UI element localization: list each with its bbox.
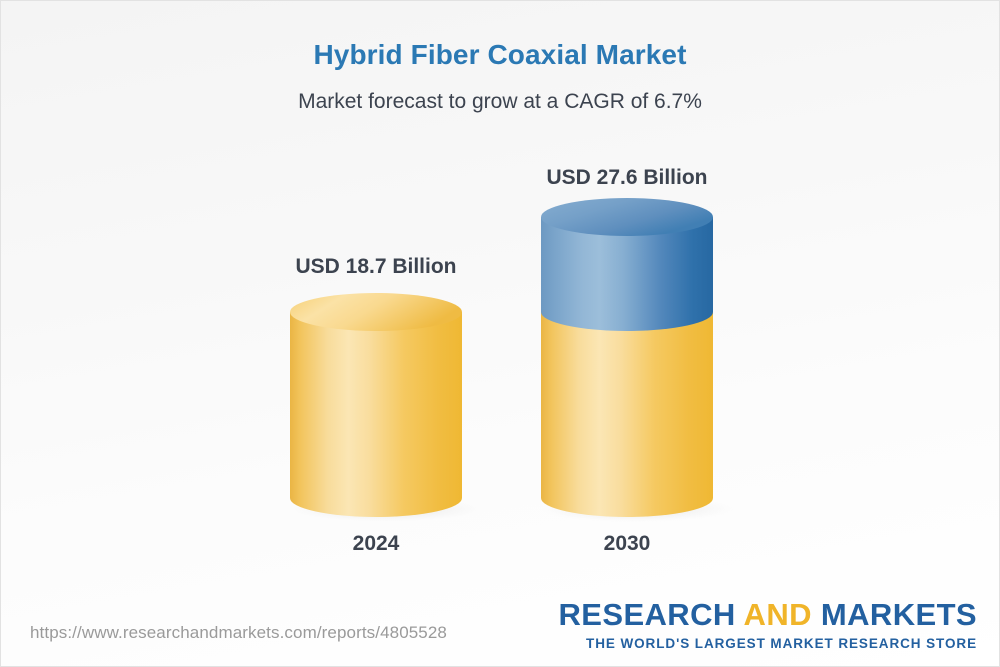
bar-body-2024 (290, 312, 462, 517)
logo-word-markets: MARKETS (812, 597, 977, 632)
cylinder-bar-2024[interactable] (282, 293, 482, 525)
bar-category-label-2030: 2030 (516, 532, 738, 556)
infographic-canvas: Hybrid Fiber Coaxial Market Market forec… (0, 0, 1000, 667)
logo-word-and: AND (744, 597, 812, 632)
logo-word-research: RESEARCH (559, 597, 744, 632)
logo-wordmark: RESEARCH AND MARKETS (559, 599, 978, 630)
bar-top-cap-2030 (541, 198, 713, 236)
bar-value-label-2024: USD 18.7 Billion (265, 255, 487, 279)
bar-segment-base-2030 (541, 312, 713, 517)
bar-category-label-2024: 2024 (265, 532, 487, 556)
logo-tagline: THE WORLD'S LARGEST MARKET RESEARCH STOR… (559, 637, 978, 651)
bar-value-label-2030: USD 27.6 Billion (516, 166, 738, 190)
cylinder-bar-2030[interactable] (533, 198, 733, 525)
research-and-markets-logo[interactable]: RESEARCH AND MARKETS THE WORLD'S LARGEST… (559, 599, 978, 651)
report-url-link[interactable]: https://www.researchandmarkets.com/repor… (30, 623, 447, 643)
chart-plot-area: USD 18.7 Billion (1, 1, 1000, 601)
bar-top-cap-2024 (290, 293, 462, 331)
